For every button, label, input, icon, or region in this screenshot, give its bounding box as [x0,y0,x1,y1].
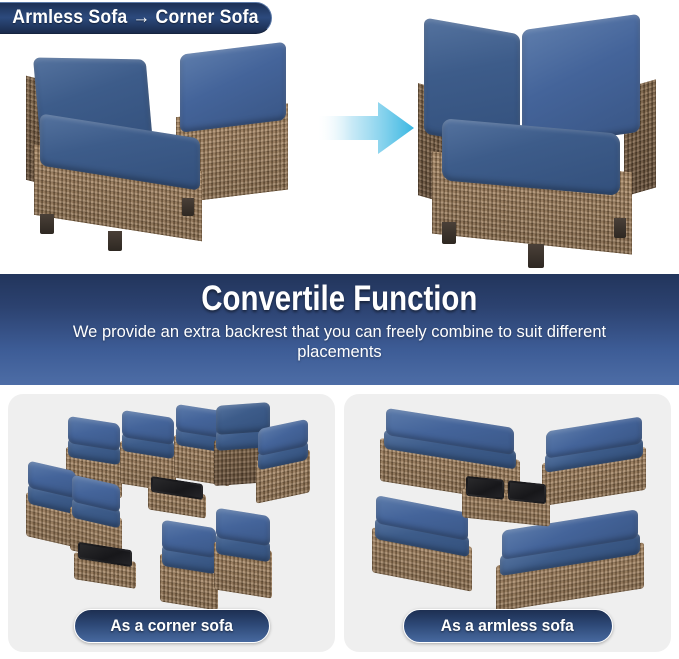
table-glass-top [466,476,505,500]
feature-title: Convertile Function [201,280,477,317]
extra-backrest-cushion [180,42,286,133]
card-label-corner-sofa: As a corner sofa [74,609,270,643]
card-corner-sofa-layout: As a corner sofa [8,394,335,652]
hero-title-banner: Armless Sofa → Corner Sofa [0,2,272,34]
card-armless-sofa-layout: As a armless sofa [344,394,671,652]
transform-arrow [316,96,416,160]
sofa-leg [614,218,626,238]
sectional-module [160,519,218,610]
corner-sofa-illustration [418,22,666,272]
sofa-leg [442,222,456,244]
card-label-armless-sofa: As a armless sofa [403,609,613,643]
coffee-table [462,475,550,526]
feature-subtitle: We provide an extra backrest that you ca… [40,322,640,362]
sectional-module [214,507,272,598]
two-seat-sofa [542,416,646,506]
sofa-leg [182,198,194,216]
card-label-text: As a armless sofa [441,616,574,636]
coffee-table [148,475,206,518]
arrangement-cards: As a corner sofa [0,389,679,659]
card-label-text: As a corner sofa [110,616,233,636]
product-infographic: Armless Sofa → Corner Sofa [0,0,679,659]
hero-title-text: Armless Sofa → Corner Sofa [12,7,258,29]
table-glass-top [508,480,547,504]
feature-band: Convertile Function We provide an extra … [0,274,679,385]
sofa-leg [40,214,54,234]
two-seat-sofa [372,494,472,591]
sofa-leg [108,231,122,251]
three-seat-sofa [496,508,644,611]
coffee-table [74,541,136,589]
hero-comparison-section: Armless Sofa → Corner Sofa [0,0,679,274]
sectional-module [256,418,310,503]
armless-sofa-illustration [18,46,268,252]
sofa-leg [528,244,544,268]
